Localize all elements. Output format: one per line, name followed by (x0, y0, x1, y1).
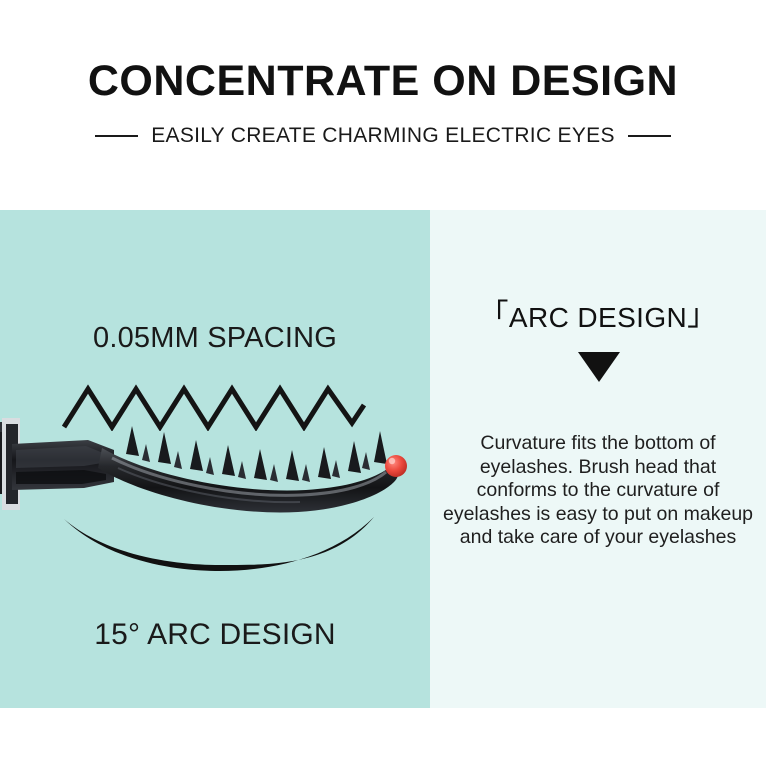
page-title: CONCENTRATE ON DESIGN (0, 59, 766, 103)
arc-design-heading-text: ARC DESIGN (509, 302, 687, 333)
subtitle-row: EASILY CREATE CHARMING ELECTRIC EYES (0, 124, 766, 148)
down-triangle-icon (578, 352, 620, 382)
arc-design-description: Curvature fits the bottom of eyelashes. … (442, 432, 754, 550)
arc-degree-label: 15° ARC DESIGN (0, 618, 430, 652)
spacing-label: 0.05MM SPACING (0, 322, 430, 355)
corner-bracket-open-icon: 「 (478, 299, 508, 332)
horizontal-rule-right-icon (628, 135, 671, 137)
product-feature-infographic: CONCENTRATE ON DESIGN EASILY CREATE CHAR… (0, 0, 766, 766)
page-subtitle: EASILY CREATE CHARMING ELECTRIC EYES (151, 124, 615, 148)
corner-bracket-close-icon: 」 (687, 299, 717, 332)
footer-whitespace (0, 708, 766, 766)
product-image-eyelash-curler (0, 410, 428, 530)
feature-panels: 0.05MM SPACING (0, 210, 766, 708)
right-feature-panel: 「ARC DESIGN」 Curvature fits the bottom o… (430, 210, 766, 708)
left-feature-panel: 0.05MM SPACING (0, 210, 430, 708)
arc-curve-icon (60, 513, 380, 575)
horizontal-rule-left-icon (95, 135, 138, 137)
header-band: CONCENTRATE ON DESIGN EASILY CREATE CHAR… (0, 0, 766, 210)
arc-design-heading: 「ARC DESIGN」 (430, 290, 766, 334)
